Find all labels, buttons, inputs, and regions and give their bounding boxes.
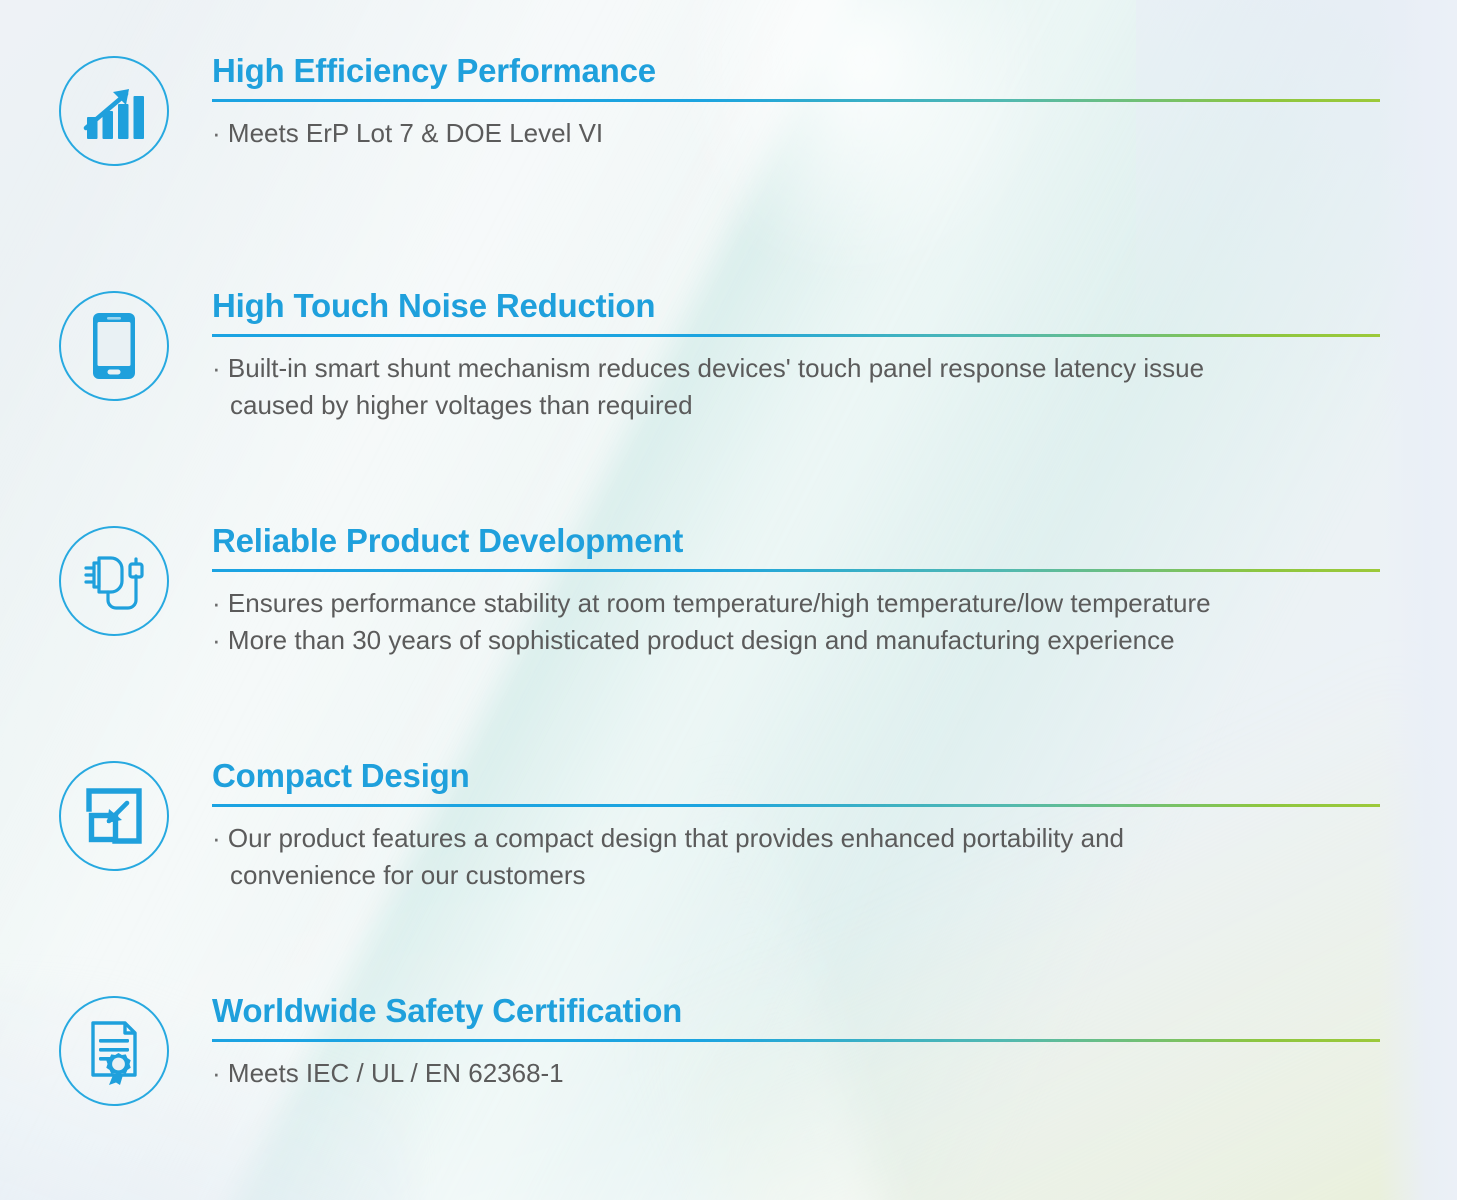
feature-item-worldwide-safety-certification: Worldwide Safety Certification · Meets I… [52, 992, 1382, 1106]
feature-title: Worldwide Safety Certification [212, 992, 1380, 1030]
feature-line-text: Meets ErP Lot 7 & DOE Level VI [228, 118, 603, 148]
feature-line: · Built-in smart shunt mechanism reduces… [212, 350, 1380, 387]
feature-icon-wrap [52, 757, 176, 871]
feature-title: Compact Design [212, 757, 1380, 795]
feature-divider [212, 569, 1380, 572]
feature-body: Worldwide Safety Certification · Meets I… [212, 992, 1380, 1092]
feature-line-text: Our product features a compact design th… [228, 823, 1124, 853]
feature-body: Compact Design · Our product features a … [212, 757, 1380, 894]
feature-icon-wrap [52, 287, 176, 401]
feature-body: Reliable Product Development · Ensures p… [212, 522, 1380, 659]
feature-highlights-page: High Efficiency Performance · Meets ErP … [0, 0, 1457, 1200]
bar-chart-growth-icon [59, 56, 169, 166]
feature-divider [212, 334, 1380, 337]
feature-line: · Meets ErP Lot 7 & DOE Level VI [212, 115, 1380, 152]
feature-divider [212, 804, 1380, 807]
feature-item-high-touch-noise-reduction: High Touch Noise Reduction · Built-in sm… [52, 287, 1382, 424]
feature-line: · Ensures performance stability at room … [212, 585, 1380, 622]
background-right-edge [1378, 0, 1457, 1200]
feature-item-high-efficiency-performance: High Efficiency Performance · Meets ErP … [52, 52, 1382, 166]
feature-line: · Meets IEC / UL / EN 62368-1 [212, 1055, 1380, 1092]
feature-body: High Efficiency Performance · Meets ErP … [212, 52, 1380, 152]
certificate-award-icon [59, 996, 169, 1106]
feature-line: caused by higher voltages than required [212, 387, 1380, 424]
feature-line-text: convenience for our customers [230, 860, 586, 890]
feature-title: High Touch Noise Reduction [212, 287, 1380, 325]
bullet-marker: · [212, 823, 221, 853]
feature-line-text: Ensures performance stability at room te… [228, 588, 1211, 618]
feature-line-text: Built-in smart shunt mechanism reduces d… [228, 353, 1204, 383]
feature-body: High Touch Noise Reduction · Built-in sm… [212, 287, 1380, 424]
bullet-marker: · [212, 625, 221, 655]
feature-line: · Our product features a compact design … [212, 820, 1380, 857]
feature-icon-wrap [52, 52, 176, 166]
smartphone-icon [59, 291, 169, 401]
feature-line: · More than 30 years of sophisticated pr… [212, 622, 1380, 659]
feature-item-compact-design: Compact Design · Our product features a … [52, 757, 1382, 894]
feature-icon-wrap [52, 522, 176, 636]
feature-divider [212, 99, 1380, 102]
feature-item-reliable-product-development: Reliable Product Development · Ensures p… [52, 522, 1382, 659]
feature-line-text: More than 30 years of sophisticated prod… [228, 625, 1175, 655]
feature-title: High Efficiency Performance [212, 52, 1380, 90]
compact-resize-icon [59, 761, 169, 871]
feature-title: Reliable Product Development [212, 522, 1380, 560]
feature-icon-wrap [52, 992, 176, 1106]
bullet-marker: · [212, 1058, 221, 1088]
feature-line-text: Meets IEC / UL / EN 62368-1 [228, 1058, 564, 1088]
bullet-marker: · [212, 588, 221, 618]
bullet-marker: · [212, 118, 221, 148]
feature-line: convenience for our customers [212, 857, 1380, 894]
feature-divider [212, 1039, 1380, 1042]
power-adapter-icon [59, 526, 169, 636]
feature-line-text: caused by higher voltages than required [230, 390, 693, 420]
bullet-marker: · [212, 353, 221, 383]
